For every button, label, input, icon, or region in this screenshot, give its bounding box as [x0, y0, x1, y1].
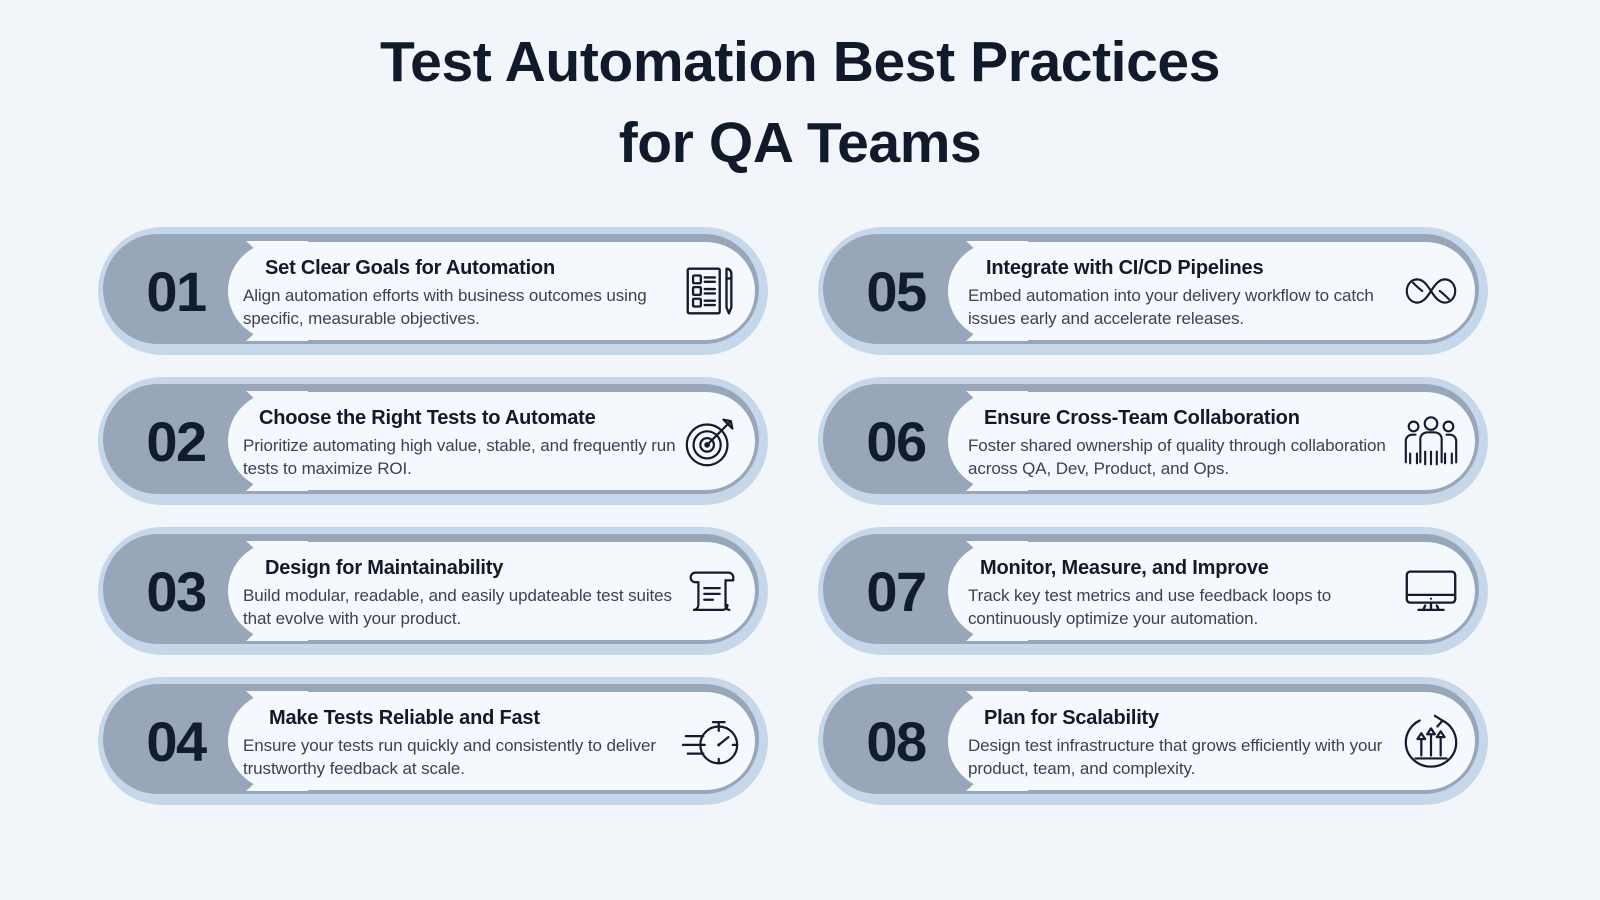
card-text: Make Tests Reliable and Fast Ensure your… [243, 694, 676, 791]
card-description: Align automation efforts with business o… [243, 284, 676, 330]
card-description: Design test infrastructure that grows ef… [968, 734, 1400, 780]
practice-card-08[interactable]: 08 Plan for Scalability Design test infr… [818, 677, 1488, 805]
infographic-page: Test Automation Best Practices for QA Te… [0, 0, 1600, 900]
card-description: Track key test metrics and use feedback … [968, 584, 1400, 630]
card-text: Plan for Scalability Design test infrast… [968, 694, 1400, 791]
practice-card-grid: 01 Set Clear Goals for Automation Align … [98, 227, 1502, 822]
practice-card-03[interactable]: 03 Design for Maintainability Build modu… [98, 527, 768, 655]
card-number: 08 [818, 677, 946, 805]
card-text: Design for Maintainability Build modular… [243, 544, 676, 641]
card-number: 04 [98, 677, 226, 805]
card-number: 07 [818, 527, 946, 655]
infinity-devops-loop-icon [1400, 260, 1462, 322]
card-number: 02 [98, 377, 226, 505]
card-title: Monitor, Measure, and Improve [980, 555, 1400, 581]
card-description: Build modular, readable, and easily upda… [243, 584, 676, 630]
stopwatch-speed-icon [680, 710, 742, 772]
card-title: Make Tests Reliable and Fast [269, 705, 676, 731]
card-title: Plan for Scalability [984, 705, 1400, 731]
practice-card-06[interactable]: 06 Ensure Cross-Team Collaboration Foste… [818, 377, 1488, 505]
checklist-clipboard-pencil-icon [680, 260, 742, 322]
card-text: Choose the Right Tests to Automate Prior… [243, 394, 676, 491]
card-number: 03 [98, 527, 226, 655]
practice-card-01[interactable]: 01 Set Clear Goals for Automation Align … [98, 227, 768, 355]
card-title: Set Clear Goals for Automation [265, 255, 676, 281]
card-description: Embed automation into your delivery work… [968, 284, 1400, 330]
page-title: Test Automation Best Practices for QA Te… [0, 22, 1600, 184]
practice-card-02[interactable]: 02 Choose the Right Tests to Automate Pr… [98, 377, 768, 505]
practice-card-05[interactable]: 05 Integrate with CI/CD Pipelines Embed … [818, 227, 1488, 355]
card-number: 06 [818, 377, 946, 505]
title-line-1: Test Automation Best Practices [0, 22, 1600, 103]
card-title: Design for Maintainability [265, 555, 676, 581]
card-text: Set Clear Goals for Automation Align aut… [243, 244, 676, 341]
card-text: Monitor, Measure, and Improve Track key … [968, 544, 1400, 641]
card-description: Prioritize automating high value, stable… [243, 434, 676, 480]
practice-card-07[interactable]: 07 Monitor, Measure, and Improve Track k… [818, 527, 1488, 655]
card-text: Ensure Cross-Team Collaboration Foster s… [968, 394, 1400, 491]
title-line-2: for QA Teams [0, 103, 1600, 184]
monitor-display-icon [1400, 560, 1462, 622]
card-text: Integrate with CI/CD Pipelines Embed aut… [968, 244, 1400, 341]
growth-arrows-circle-icon [1400, 710, 1462, 772]
card-title: Integrate with CI/CD Pipelines [986, 255, 1400, 281]
card-title: Choose the Right Tests to Automate [259, 405, 676, 431]
card-number: 01 [98, 227, 226, 355]
card-description: Foster shared ownership of quality throu… [968, 434, 1400, 480]
card-description: Ensure your tests run quickly and consis… [243, 734, 676, 780]
people-group-icon [1400, 410, 1462, 472]
practice-card-04[interactable]: 04 Make Tests Reliable and Fast Ensure y… [98, 677, 768, 805]
scroll-document-icon [680, 560, 742, 622]
card-number: 05 [818, 227, 946, 355]
target-dart-icon [680, 410, 742, 472]
card-title: Ensure Cross-Team Collaboration [984, 405, 1400, 431]
